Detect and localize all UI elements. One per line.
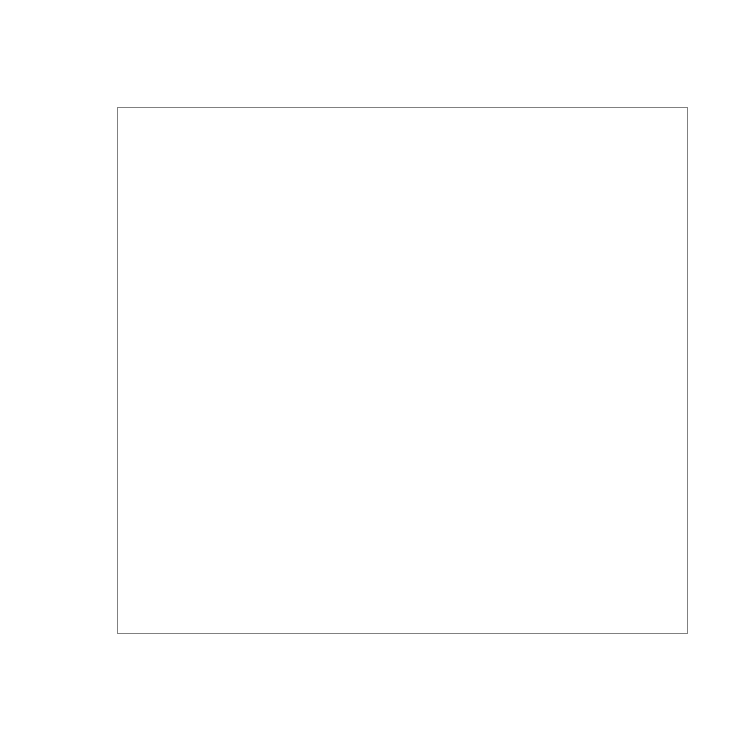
conservation-plot xyxy=(0,0,750,750)
plot-canvas xyxy=(118,108,687,633)
plot-panel xyxy=(117,107,688,634)
